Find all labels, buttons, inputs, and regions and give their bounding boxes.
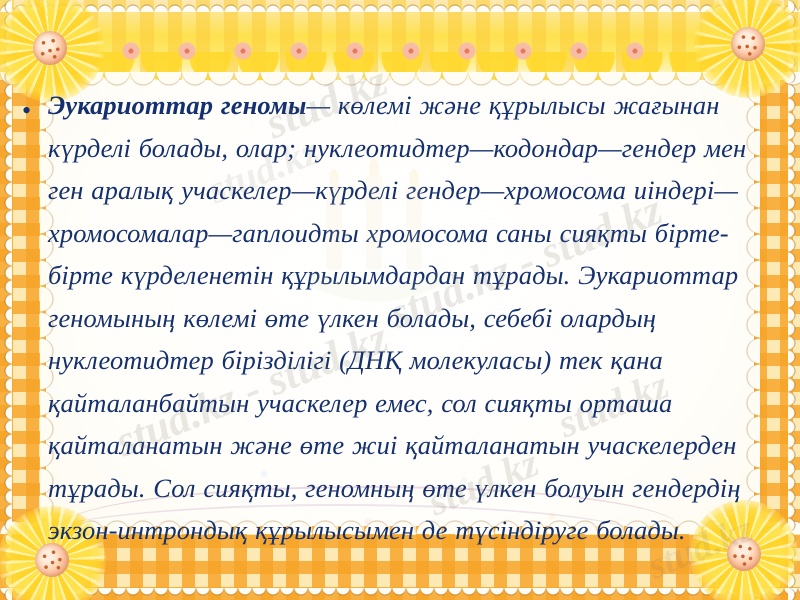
picot-trim-top [0,0,800,12]
daisy-center [33,31,67,65]
picot-trim-bottom [0,588,800,600]
pink-blossom-icon [120,40,680,62]
bullet-list-item: • Эукариоттар геномы— көлемі және құрылы… [22,84,774,552]
slide-root: • Эукариоттар геномы— көлемі және құрылы… [0,0,800,600]
body-paragraph-text: — көлемі және құрылысы жағынан күрделі б… [48,90,746,545]
slide-content: • Эукариоттар геномы— көлемі және құрылы… [22,84,774,560]
bullet-icon: • [22,84,48,124]
lead-term: Эукариоттар геномы [48,90,306,120]
body-paragraph: Эукариоттар геномы— көлемі және құрылысы… [48,84,774,552]
